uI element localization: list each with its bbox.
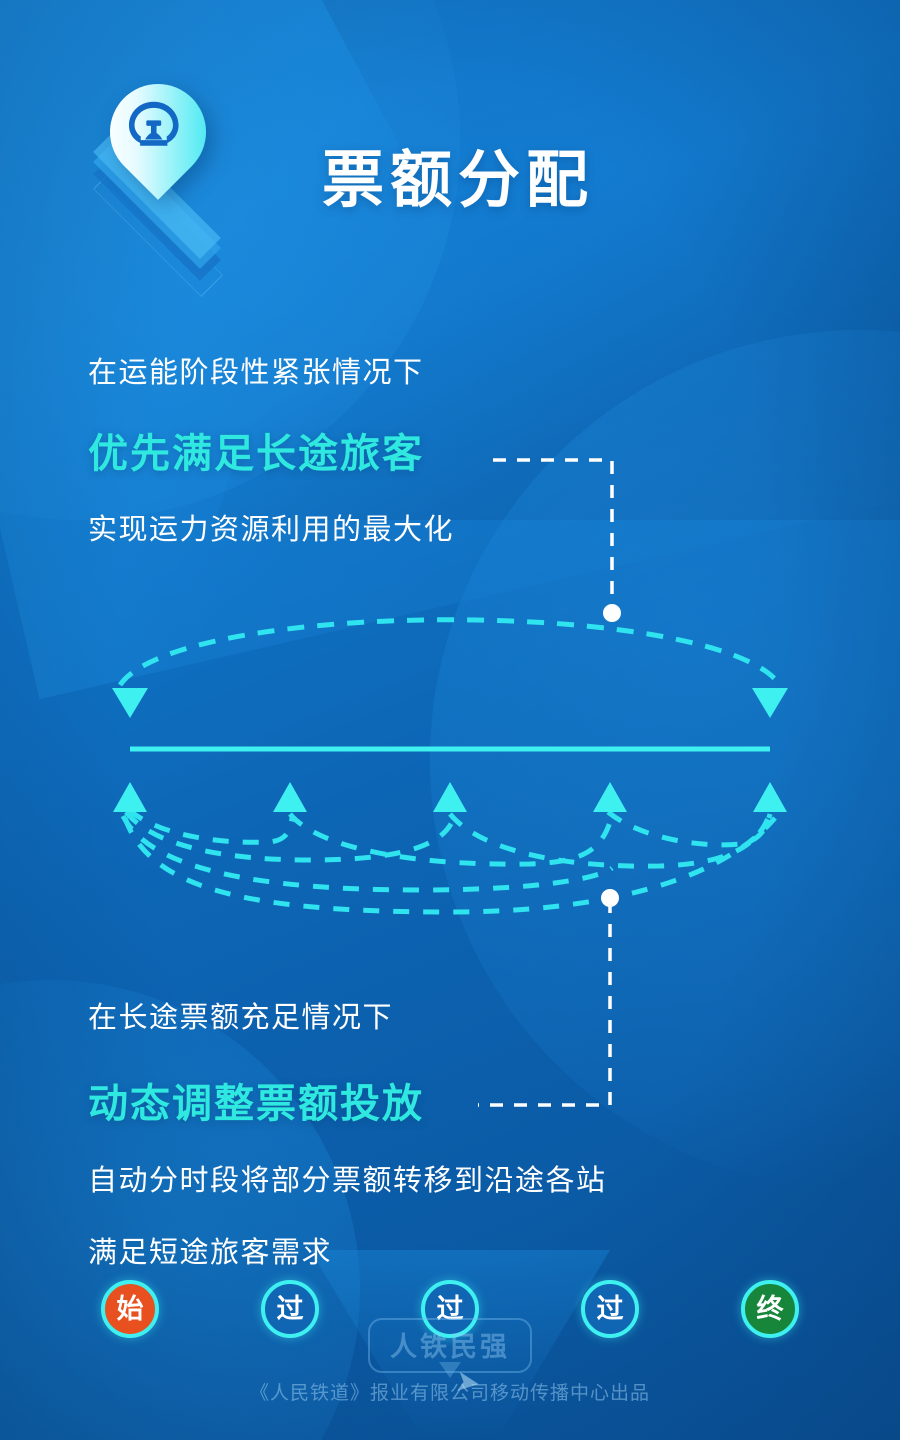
arrows-down	[112, 688, 788, 718]
footer: 人铁民强 《人民铁道》报业有限公司移动传播中心出品	[0, 1310, 900, 1440]
bottom-highlight: 动态调整票额投放	[88, 1080, 424, 1128]
poster-root: 票额分配 在运能阶段性紧张情况下 优先满足长途旅客 实现运力资源利用的最大化 .…	[0, 0, 900, 1440]
arrows-up	[113, 782, 787, 812]
bottom-line-1: 在长途票额充足情况下	[88, 1000, 393, 1036]
arc-origin-to-station-2	[129, 810, 292, 842]
arc-station-4-to-terminus	[608, 812, 770, 845]
arc-origin-to-terminus	[120, 620, 780, 685]
railway-emblem-icon	[123, 97, 185, 159]
arc-origin-to-station-4	[123, 816, 612, 890]
top-line-1: 在运能阶段性紧张情况下	[88, 355, 424, 391]
arc-origin-to-station-3	[126, 812, 452, 860]
footer-caption: 《人民铁道》报业有限公司移动传播中心出品	[0, 1378, 900, 1405]
arc-station-2-to-station-4	[290, 814, 610, 864]
china-railway-pin-icon	[52, 84, 262, 259]
page-title: 票额分配	[322, 150, 594, 212]
bottom-line-3: 自动分时段将部分票额转移到沿途各站	[88, 1163, 607, 1199]
arc-station-3-to-terminus	[450, 814, 768, 866]
mouse-cursor-icon: ➤	[453, 1366, 482, 1399]
bottom-line-4: 满足短途旅客需求	[88, 1235, 332, 1271]
header: 票额分配	[0, 0, 900, 300]
connector-dot-upper	[603, 604, 621, 622]
